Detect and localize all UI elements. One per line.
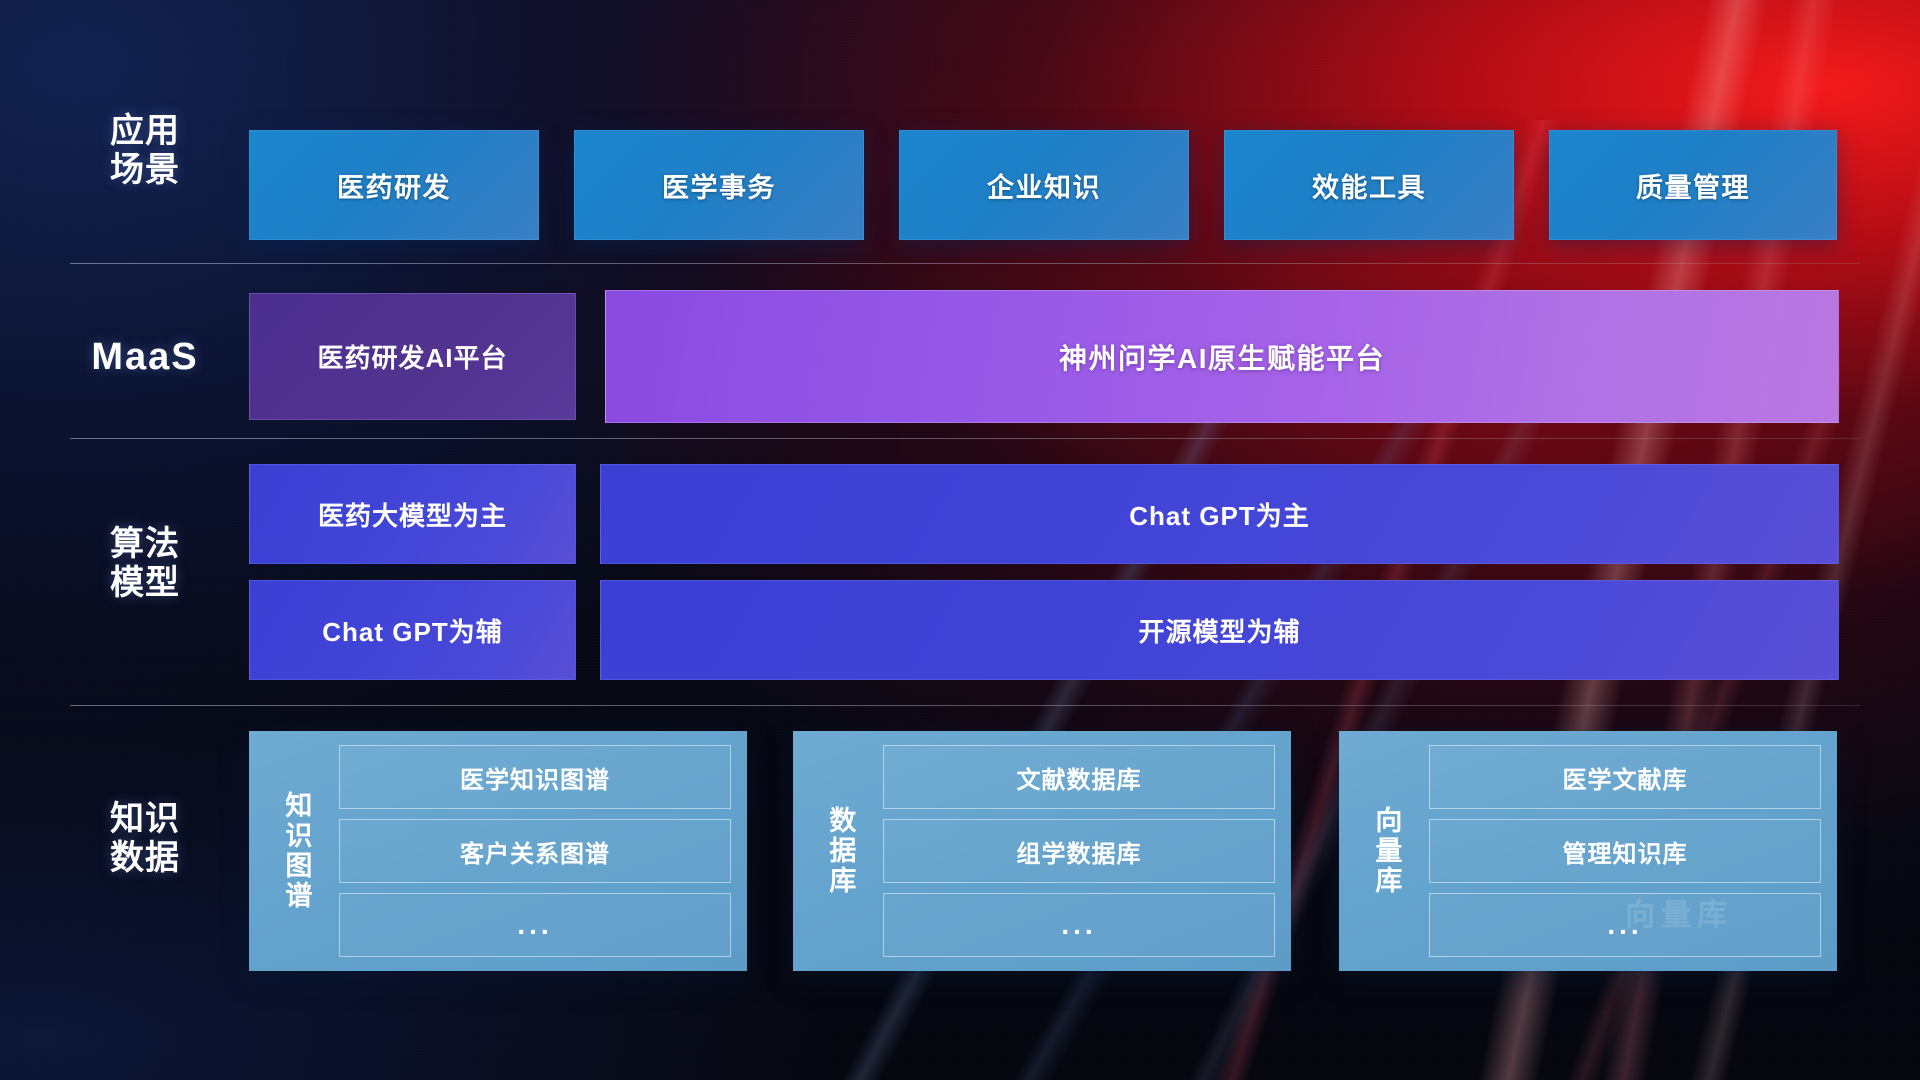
row-label-knowledge-line2: 数据 [70,839,220,878]
row-label-maas-text: MaaS [70,335,220,379]
scenario-card-3[interactable]: 企业知识 [899,130,1189,240]
row-label-maas: MaaS [70,335,220,379]
row-label-algorithm-line1: 算法 [70,525,220,564]
scenario-card-5[interactable]: 质量管理 [1549,130,1837,240]
row-label-application-line1: 应用 [70,112,220,151]
row-label-knowledge-line1: 知识 [70,800,220,839]
scenario-card-5-label: 质量管理 [1636,166,1750,205]
algorithm-card-left-primary[interactable]: 医药大模型为主 [249,464,576,564]
row-label-application-scenario: 应用 场景 [70,112,220,191]
knowledge-group-1-item-3[interactable]: ... [339,893,731,957]
knowledge-group-3-item-2[interactable]: 管理知识库 [1429,819,1821,883]
knowledge-group-2-item-3[interactable]: ... [883,893,1275,957]
scenario-card-1[interactable]: 医药研发 [249,130,539,240]
scenario-card-2-label: 医学事务 [662,166,776,205]
maas-platform-card-left[interactable]: 医药研发AI平台 [249,293,576,420]
row-label-algorithm-line2: 模型 [70,564,220,603]
maas-platform-card-right-label: 神州问学AI原生赋能平台 [1059,337,1385,377]
divider-algorithm-knowledge [70,705,1860,706]
knowledge-group-3-item-3[interactable]: ... [1429,893,1821,957]
divider-application-maas [70,263,1860,264]
scenario-card-4-label: 效能工具 [1312,166,1426,205]
scenario-card-3-label: 企业知识 [987,166,1101,205]
algorithm-card-right-primary-label: Chat GPT为主 [1129,496,1309,533]
algorithm-card-right-secondary-label: 开源模型为辅 [1138,612,1300,649]
algorithm-card-right-primary[interactable]: Chat GPT为主 [600,464,1839,564]
knowledge-group-2-item-1[interactable]: 文献数据库 [883,745,1275,809]
knowledge-group-3-item-1[interactable]: 医学文献库 [1429,745,1821,809]
algorithm-card-left-primary-label: 医药大模型为主 [318,496,507,533]
knowledge-group-knowledge-graph[interactable]: 知识图谱 医学知识图谱 客户关系图谱 ... [249,731,747,971]
knowledge-group-3-title: 向量库 [1349,745,1423,957]
knowledge-group-1-item-2[interactable]: 客户关系图谱 [339,819,731,883]
algorithm-card-left-secondary[interactable]: Chat GPT为辅 [249,580,576,680]
knowledge-group-3-items: 医学文献库 管理知识库 ... [1423,745,1821,957]
row-label-application-line2: 场景 [70,151,220,190]
scenario-card-1-label: 医药研发 [337,166,451,205]
knowledge-group-1-items: 医学知识图谱 客户关系图谱 ... [333,745,731,957]
maas-platform-card-right[interactable]: 神州问学AI原生赋能平台 [605,290,1839,423]
knowledge-group-1-item-1[interactable]: 医学知识图谱 [339,745,731,809]
knowledge-group-vector-store[interactable]: 向量库 医学文献库 管理知识库 ... [1339,731,1837,971]
row-label-algorithm-model: 算法 模型 [70,525,220,604]
divider-maas-algorithm [70,438,1860,439]
algorithm-card-right-secondary[interactable]: 开源模型为辅 [600,580,1839,680]
algorithm-card-left-secondary-label: Chat GPT为辅 [322,612,502,649]
knowledge-group-2-title: 数据库 [803,745,877,957]
knowledge-group-2-item-2[interactable]: 组学数据库 [883,819,1275,883]
scenario-card-2[interactable]: 医学事务 [574,130,864,240]
maas-platform-card-left-label: 医药研发AI平台 [317,338,507,375]
knowledge-group-2-items: 文献数据库 组学数据库 ... [877,745,1275,957]
slide-canvas: 应用 场景 医药研发 医学事务 企业知识 效能工具 质量管理 MaaS 医药研发… [0,0,1920,1080]
knowledge-group-1-title: 知识图谱 [259,745,333,957]
knowledge-group-database[interactable]: 数据库 文献数据库 组学数据库 ... [793,731,1291,971]
row-label-knowledge-data: 知识 数据 [70,800,220,879]
scenario-card-4[interactable]: 效能工具 [1224,130,1514,240]
